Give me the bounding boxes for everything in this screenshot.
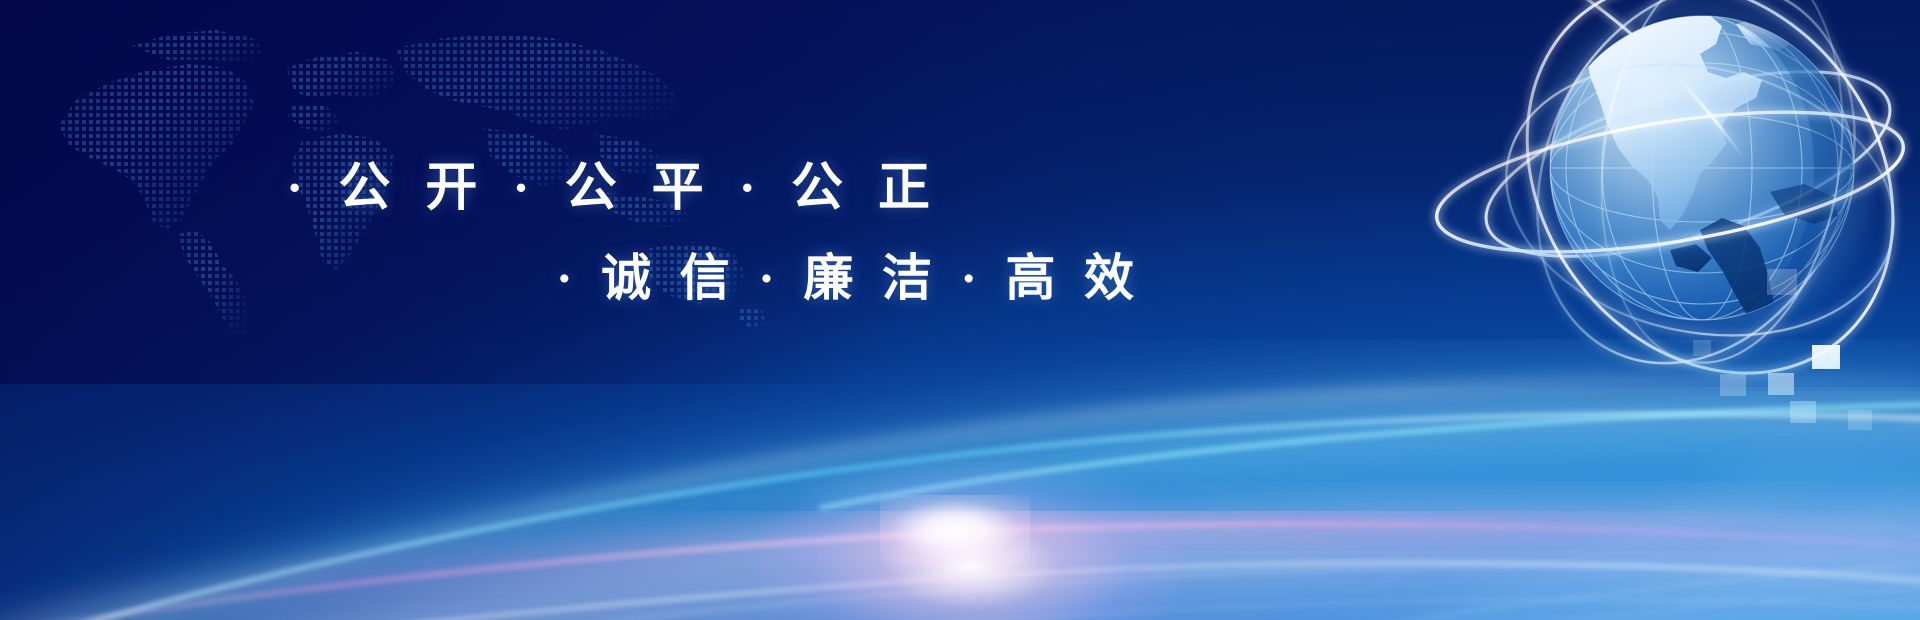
promotional-banner: · 公 开 · 公 平 · 公 正 · 诚 信 · 廉 洁 · 高 效 xyxy=(0,0,1920,620)
slogan-line-1: · 公 开 · 公 平 · 公 正 xyxy=(286,145,941,220)
slogan-line-2: · 诚 信 · 廉 洁 · 高 效 xyxy=(556,238,1142,310)
light-hotspot-core xyxy=(880,495,1030,565)
